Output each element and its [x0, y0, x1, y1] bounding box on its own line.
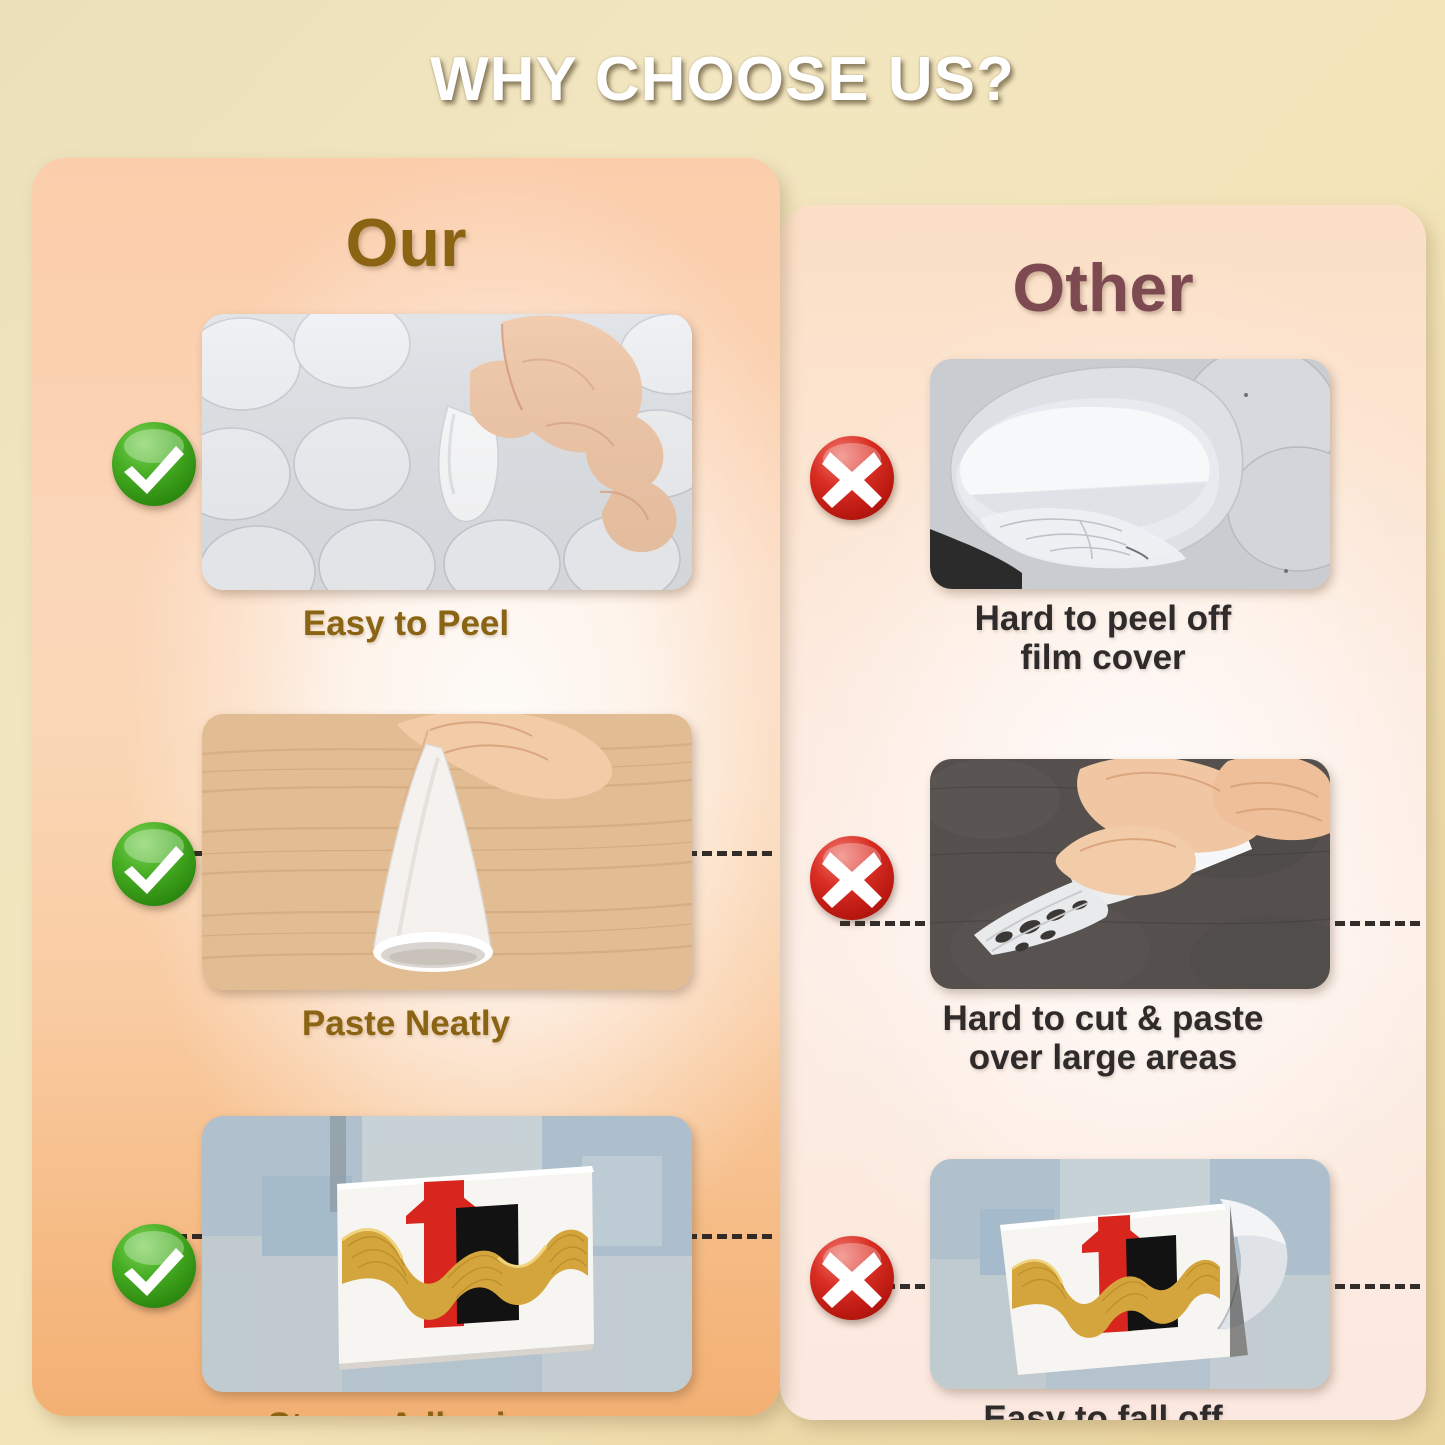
x-icon: [810, 836, 894, 920]
our-row-3-image: [202, 1116, 692, 1392]
our-row-1-image: [202, 314, 692, 590]
other-row-3-caption-line1: Easy to fall off: [780, 1399, 1426, 1420]
our-row-2-caption: Paste Neatly: [32, 1004, 780, 1043]
other-row-2: Hard to cut & paste over large areas: [780, 751, 1426, 1103]
other-row-3-image: [930, 1159, 1330, 1389]
other-column-card: Other: [780, 205, 1426, 1420]
other-row-1-caption-line2: film cover: [780, 638, 1426, 677]
page-title: WHY CHOOSE US?: [0, 44, 1445, 115]
our-column-heading: Our: [32, 204, 780, 282]
x-icon: [810, 1236, 894, 1320]
our-row-1: Easy to Peel: [32, 304, 780, 664]
our-row-3-caption: Strong Adhesive: [32, 1406, 780, 1416]
our-row-3: Strong Adhesive: [32, 1106, 780, 1416]
x-icon: [810, 436, 894, 520]
check-icon: [112, 422, 196, 506]
other-row-1-caption: Hard to peel off film cover: [780, 599, 1426, 677]
other-row-2-caption-line1: Hard to cut & paste: [780, 999, 1426, 1038]
check-icon: [112, 822, 196, 906]
other-row-3: Easy to fall off: [780, 1151, 1426, 1420]
other-row-3-caption: Easy to fall off: [780, 1399, 1426, 1420]
other-column-heading: Other: [780, 249, 1426, 327]
other-row-1-caption-line1: Hard to peel off: [780, 599, 1426, 638]
other-row-1-image: [930, 359, 1330, 589]
our-column-card: Our: [32, 158, 780, 1416]
other-row-2-caption: Hard to cut & paste over large areas: [780, 999, 1426, 1077]
check-icon: [112, 1224, 196, 1308]
our-row-2: Paste Neatly: [32, 704, 780, 1064]
other-row-1: Hard to peel off film cover: [780, 351, 1426, 703]
other-row-2-caption-line2: over large areas: [780, 1038, 1426, 1077]
other-row-2-image: [930, 759, 1330, 989]
our-row-2-image: [202, 714, 692, 990]
our-row-1-caption: Easy to Peel: [32, 604, 780, 643]
